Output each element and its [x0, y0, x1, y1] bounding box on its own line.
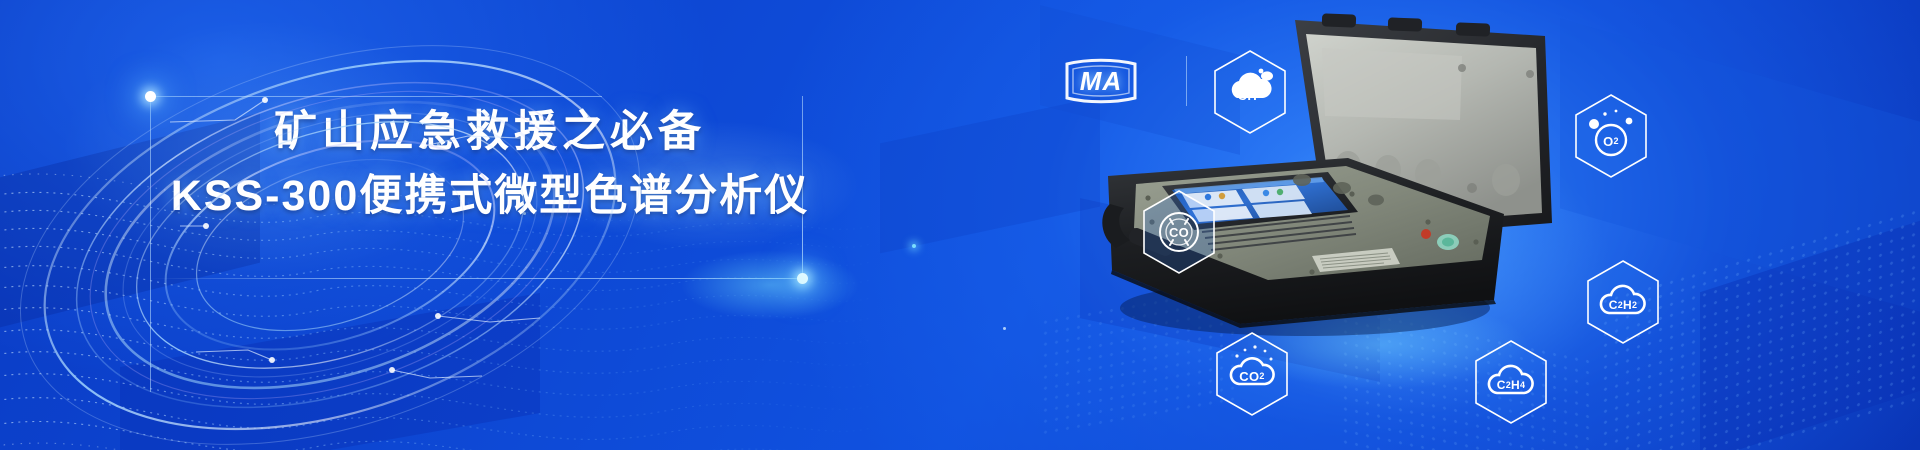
- gas-label-co: CO: [1140, 188, 1218, 276]
- gas-label-c2h4: C2H4: [1472, 338, 1550, 426]
- gas-label-ch4: CH4: [1211, 48, 1289, 136]
- gas-badge-co2: CO2: [1213, 330, 1291, 418]
- gas-label-o2: O2: [1572, 92, 1650, 180]
- gas-badge-ch4: CH4: [1211, 48, 1289, 136]
- gas-badge-c2h4: C2H4: [1472, 338, 1550, 426]
- sparkle-dot-3: [912, 244, 916, 248]
- sparkle-dot-4: [1003, 327, 1006, 330]
- guide-dot-bottom-right: [797, 273, 808, 284]
- gas-label-c2h2: C2H2: [1584, 258, 1662, 346]
- orbit-rings-graphic: [20, 30, 640, 450]
- device-portable-chromatograph: [1090, 8, 1560, 338]
- power-indicator: [1421, 229, 1431, 239]
- gas-badge-o2: O2: [1572, 92, 1650, 180]
- polygon-plate-center-1: [880, 97, 1100, 254]
- gas-label-co2: CO2: [1213, 330, 1291, 418]
- gas-badge-co: CO: [1140, 188, 1218, 276]
- banner-root: 矿山应急救援之必备 KSS-300便携式微型色谱分析仪 MA: [0, 0, 1920, 450]
- gas-badge-c2h2: C2H2: [1584, 258, 1662, 346]
